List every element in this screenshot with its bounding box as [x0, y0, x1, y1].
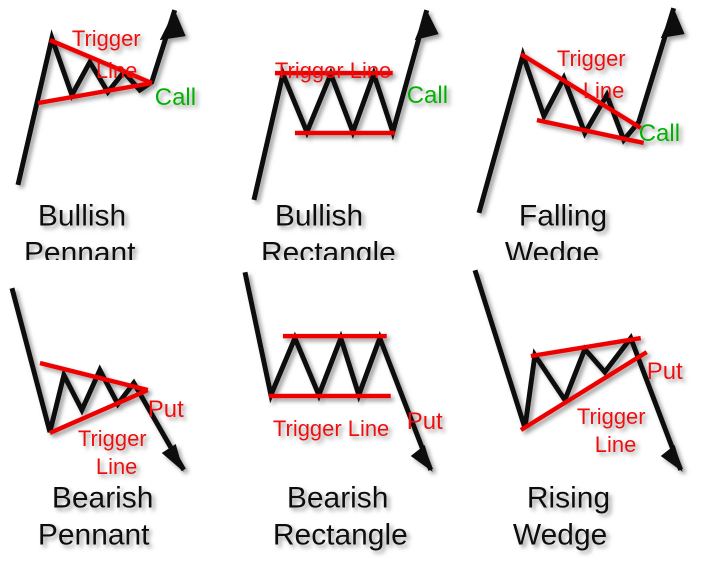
- pattern-name-line1: Bearish: [287, 482, 389, 515]
- trigger-line-label: Trigger: [577, 404, 646, 429]
- pattern-grid: TriggerLineCallBullishPennantTrigger Lin…: [0, 0, 704, 586]
- trigger-line-label-second: Line: [96, 454, 138, 479]
- trigger-line-label: Trigger: [78, 426, 147, 451]
- pattern-name-line2: Rectangle: [273, 519, 408, 552]
- trigger-line-label-second: Line: [583, 78, 625, 103]
- pattern-name-line2: Rectangle: [261, 237, 396, 260]
- pattern-name-line1: Bullish: [275, 200, 363, 233]
- breakout-arrow-head-icon: [410, 445, 432, 472]
- pattern-name-line1: Rising: [527, 482, 610, 515]
- pattern-name-line2: Wedge: [513, 519, 607, 552]
- signal-label-put: Put: [148, 396, 184, 423]
- breakout-arrow-head-icon: [414, 10, 438, 40]
- breakout-arrow-head-icon: [162, 444, 184, 472]
- pattern-panel-bullish-rectangle: Trigger LineCallBullishRectangle: [235, 0, 470, 260]
- pattern-panel-rising-wedge: TriggerLinePutRisingWedge: [469, 260, 704, 586]
- signal-label-call: Call: [639, 120, 680, 147]
- price-zigzag-line: [254, 10, 427, 200]
- trigger-line-label: Trigger: [557, 46, 626, 71]
- price-zigzag-line: [479, 8, 674, 213]
- pattern-name-line2: Pennant: [24, 237, 136, 260]
- signal-label-call: Call: [406, 82, 447, 109]
- signal-label-put: Put: [647, 358, 683, 385]
- pattern-panel-bearish-rectangle: Trigger LinePutBearishRectangle: [235, 260, 470, 586]
- trigger-line-label: Trigger: [72, 26, 141, 51]
- pattern-panel-bearish-pennant: TriggerLinePutBearishPennant: [0, 260, 235, 586]
- pattern-name-line2: Pennant: [38, 519, 150, 552]
- breakout-arrow-head-icon: [661, 445, 683, 472]
- pattern-name-line1: Falling: [519, 200, 607, 233]
- pattern-panel-falling-wedge: TriggerLineCallFallingWedge: [469, 0, 704, 260]
- pattern-name-line2: Wedge: [505, 237, 599, 260]
- pattern-name-line1: Bearish: [52, 482, 154, 515]
- trigger-line-label-second: Line: [595, 432, 637, 457]
- signal-label-call: Call: [155, 84, 196, 111]
- breakout-arrow-head-icon: [661, 8, 685, 38]
- signal-label-put: Put: [406, 408, 442, 435]
- breakout-arrow-head-icon: [160, 10, 186, 40]
- lower-trigger-line: [38, 83, 152, 103]
- pattern-panel-bullish-pennant: TriggerLineCallBullishPennant: [0, 0, 235, 260]
- trigger-line-label-second: Line: [96, 58, 138, 83]
- trigger-line-label: Trigger Line: [275, 58, 391, 83]
- trigger-line-label: Trigger Line: [273, 416, 389, 441]
- pattern-name-line1: Bullish: [38, 200, 126, 233]
